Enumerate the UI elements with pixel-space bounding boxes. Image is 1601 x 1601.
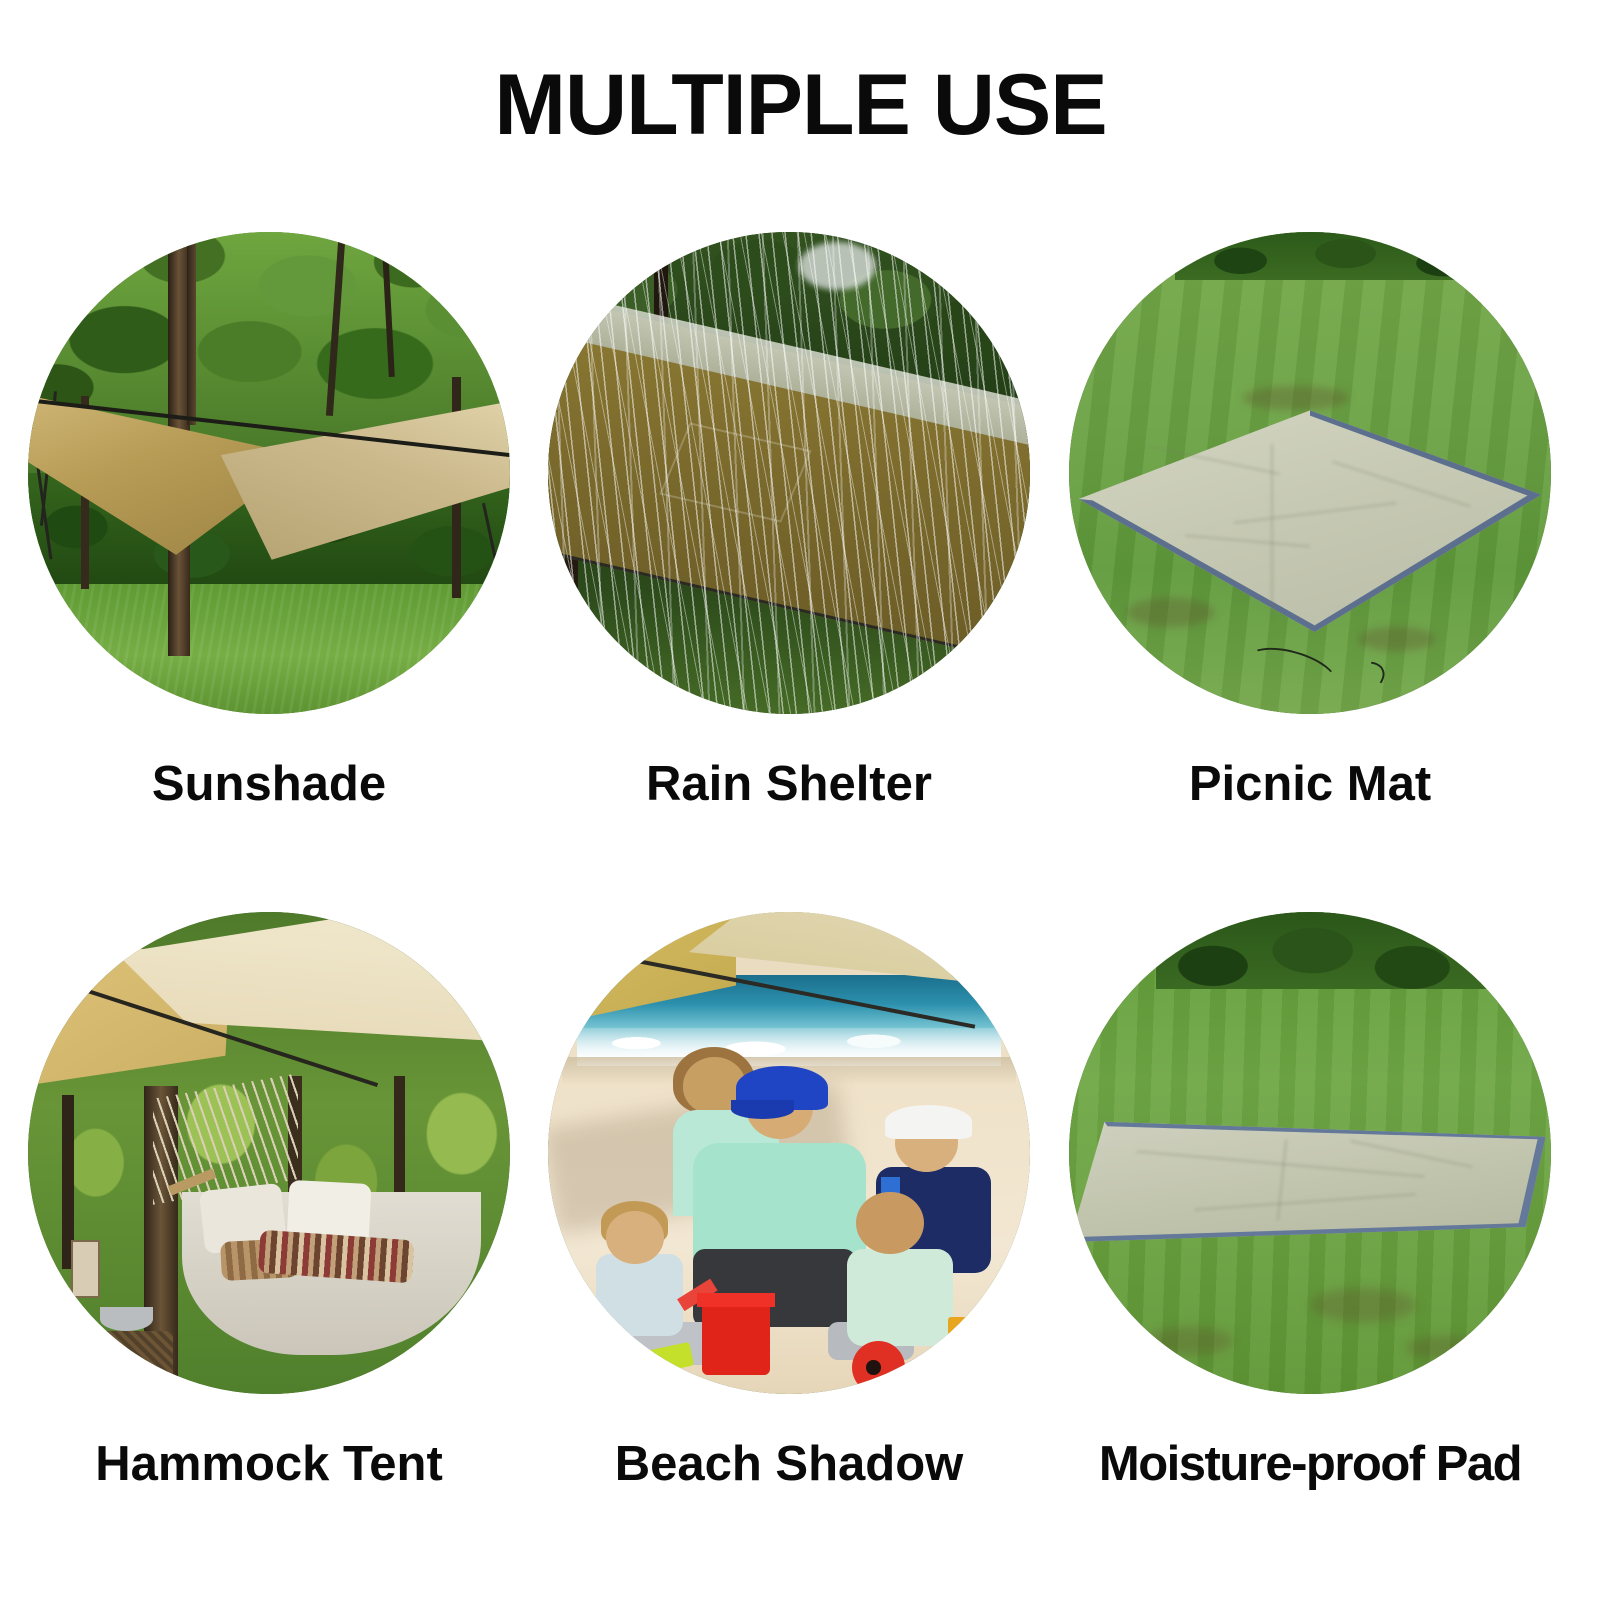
use-case-grid: Sunshade Rain Shelter bbox=[0, 232, 1601, 1592]
use-case-row-2: Hammock Tent bbox=[0, 912, 1601, 1592]
caption-hammock-tent: Hammock Tent bbox=[2, 1440, 536, 1489]
picnic-mat-photo bbox=[1069, 232, 1551, 714]
use-case-card-hammock-tent[interactable]: Hammock Tent bbox=[2, 912, 536, 1592]
caption-moisture-proof-pad: Moisture-proof Pad bbox=[1043, 1440, 1577, 1489]
use-case-card-picnic-mat[interactable]: Picnic Mat bbox=[1043, 232, 1577, 912]
beach-shadow-scene bbox=[548, 912, 1030, 1394]
moisture-proof-pad-scene bbox=[1069, 912, 1551, 1394]
page-title: MULTIPLE USE bbox=[0, 56, 1601, 155]
caption-rain-shelter: Rain Shelter bbox=[522, 760, 1056, 809]
sunshade-scene bbox=[28, 232, 510, 714]
moisture-proof-pad-photo bbox=[1069, 912, 1551, 1394]
use-case-card-beach-shadow[interactable]: Beach Shadow bbox=[522, 912, 1056, 1592]
use-case-row-1: Sunshade Rain Shelter bbox=[0, 232, 1601, 912]
caption-sunshade: Sunshade bbox=[2, 760, 536, 809]
caption-picnic-mat: Picnic Mat bbox=[1043, 760, 1577, 809]
caption-beach-shadow: Beach Shadow bbox=[522, 1440, 1056, 1489]
rain-shelter-scene bbox=[548, 232, 1030, 714]
sunshade-photo bbox=[28, 232, 510, 714]
use-case-card-moisture-proof-pad[interactable]: Moisture-proof Pad bbox=[1043, 912, 1577, 1592]
hammock-tent-photo bbox=[28, 912, 510, 1394]
use-case-card-rain-shelter[interactable]: Rain Shelter bbox=[522, 232, 1056, 912]
picnic-mat-scene bbox=[1069, 232, 1551, 714]
hammock-tent-scene bbox=[28, 912, 510, 1394]
use-case-card-sunshade[interactable]: Sunshade bbox=[2, 232, 536, 912]
beach-shadow-photo bbox=[548, 912, 1030, 1394]
rain-shelter-photo bbox=[548, 232, 1030, 714]
